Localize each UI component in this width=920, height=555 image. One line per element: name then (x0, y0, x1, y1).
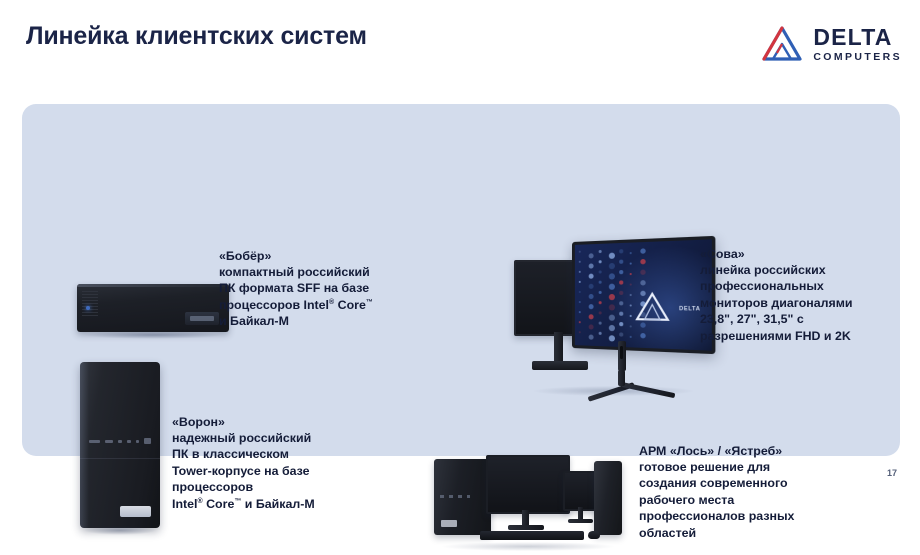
description-line: профессионалов разных (639, 508, 794, 524)
brand-logo: DELTA COMPUTERS (760, 24, 902, 64)
description-line: разрешениями FHD и 2K (700, 328, 853, 344)
wallpaper-dot (619, 291, 623, 295)
delta-triangle-icon (760, 24, 804, 64)
wallpaper-dot (599, 250, 602, 253)
wallpaper-dot (589, 253, 594, 258)
wallpaper-dot (640, 248, 645, 253)
wallpaper-dot (599, 311, 602, 314)
description-line: 23,8", 27", 31,5" с (700, 311, 853, 327)
product-title: АРМ «Лось» / «Ястреб» (639, 444, 794, 458)
screen-delta-logo-icon (634, 291, 671, 323)
wallpaper-dot (579, 281, 581, 283)
wallpaper-dot (579, 331, 581, 333)
product-title: «Бобёр» (219, 249, 373, 263)
description-line: процессоров (172, 479, 315, 495)
description-line: профессиональных (700, 278, 853, 294)
wallpaper-dot (579, 291, 581, 293)
wallpaper-dot (609, 294, 615, 300)
wallpaper-dot (599, 332, 602, 335)
wallpaper-dot (630, 252, 632, 254)
wallpaper-dot (579, 271, 581, 273)
wallpaper-dot (609, 284, 615, 290)
description-line: процессоров Intel® Core™ (219, 297, 373, 313)
product-title: «Сова» (700, 247, 853, 261)
product-description: компактный российскийПК формата SFF на б… (219, 264, 373, 330)
wallpaper-dot (589, 263, 594, 268)
wallpaper-dot (589, 284, 594, 289)
wallpaper-dot (609, 253, 615, 259)
screen-logo-label: DELTA (679, 306, 700, 313)
wallpaper-dot (640, 280, 645, 285)
wallpaper-dot (579, 301, 581, 303)
wallpaper-dot (609, 273, 615, 279)
product-description: линейка российскихпрофессиональныхмонито… (700, 262, 853, 344)
product-description: надежный российскийПК в классическомTowe… (172, 430, 315, 512)
wallpaper-dot (630, 294, 632, 296)
wallpaper-dot (619, 280, 623, 284)
wallpaper-dot (630, 283, 632, 285)
wallpaper-dot (589, 324, 594, 329)
wallpaper-dot (619, 322, 623, 326)
wallpaper-dot (579, 261, 581, 263)
wallpaper-dot (630, 262, 632, 264)
wallpaper-dot (619, 312, 623, 316)
brand-subtitle: COMPUTERS (813, 52, 902, 63)
description-line: и Байкал-М (219, 313, 373, 329)
description-line: готовое решение для (639, 459, 794, 475)
workstation-photo (434, 447, 622, 555)
wallpaper-dot (630, 273, 632, 275)
monitors-photo: DELTA (514, 242, 699, 400)
sff-pc-photo (77, 284, 229, 332)
wallpaper-dot (609, 263, 615, 269)
description-line: областей (639, 525, 794, 541)
wallpaper-dot (589, 314, 594, 319)
wallpaper-dot (609, 315, 615, 321)
wallpaper-dot (630, 336, 632, 338)
wallpaper-dot (609, 325, 615, 331)
description-line: мониторов диагоналями (700, 295, 853, 311)
description-line: ПК в классическом (172, 446, 315, 462)
wallpaper-dot (640, 259, 645, 264)
wallpaper-dot (589, 274, 594, 279)
wallpaper-dot (619, 270, 623, 274)
wallpaper-dot (589, 304, 594, 309)
product-info-sova: «Сова» линейка российскихпрофессиональны… (700, 247, 853, 344)
wallpaper-dot (630, 304, 632, 306)
wallpaper-dot (630, 325, 632, 327)
product-description: готовое решение длясоздания современного… (639, 459, 794, 541)
description-line: создания современного (639, 475, 794, 491)
wallpaper-dot (619, 332, 623, 336)
wallpaper-dot (640, 322, 645, 327)
product-info-voron: «Ворон» надежный российскийПК в классиче… (172, 415, 315, 512)
product-title: «Ворон» (172, 415, 315, 429)
description-line: линейка российских (700, 262, 853, 278)
page-number: 17 (887, 468, 897, 478)
wallpaper-dot (609, 335, 615, 341)
wallpaper-dot (599, 260, 602, 263)
description-line: Intel® Core™ и Байкал-М (172, 496, 315, 512)
description-line: Tower-корпусе на базе (172, 463, 315, 479)
wallpaper-dot (599, 270, 602, 273)
wallpaper-dot (579, 311, 581, 313)
wallpaper-dot (619, 301, 623, 305)
wallpaper-dot (589, 335, 594, 340)
wallpaper-dot (640, 333, 645, 338)
product-info-arm: АРМ «Лось» / «Ястреб» готовое решение дл… (639, 444, 794, 541)
content-card: DELTA «Бобёр» компактный российскийПК фо… (22, 104, 900, 456)
product-info-bober: «Бобёр» компактный российскийПК формата … (219, 249, 373, 330)
wallpaper-dot (640, 270, 645, 275)
description-line: компактный российский (219, 264, 373, 280)
wallpaper-dot (609, 304, 615, 310)
wallpaper-dot (579, 321, 581, 323)
wallpaper-dot (599, 281, 602, 284)
wallpaper-dot (599, 291, 602, 294)
wallpaper-dot (630, 315, 632, 317)
tower-pc-photo (80, 362, 160, 528)
brand-name: DELTA (813, 26, 902, 49)
wallpaper-dot (619, 249, 623, 253)
description-line: рабочего места (639, 492, 794, 508)
wallpaper-dot (599, 322, 602, 325)
description-line: надежный российский (172, 430, 315, 446)
description-line: ПК формата SFF на базе (219, 280, 373, 296)
wallpaper-dot (619, 260, 623, 264)
wallpaper-dot (589, 294, 594, 299)
page-title: Линейка клиентских систем (26, 22, 367, 51)
wallpaper-dot (599, 301, 602, 304)
wallpaper-dot (579, 251, 581, 253)
